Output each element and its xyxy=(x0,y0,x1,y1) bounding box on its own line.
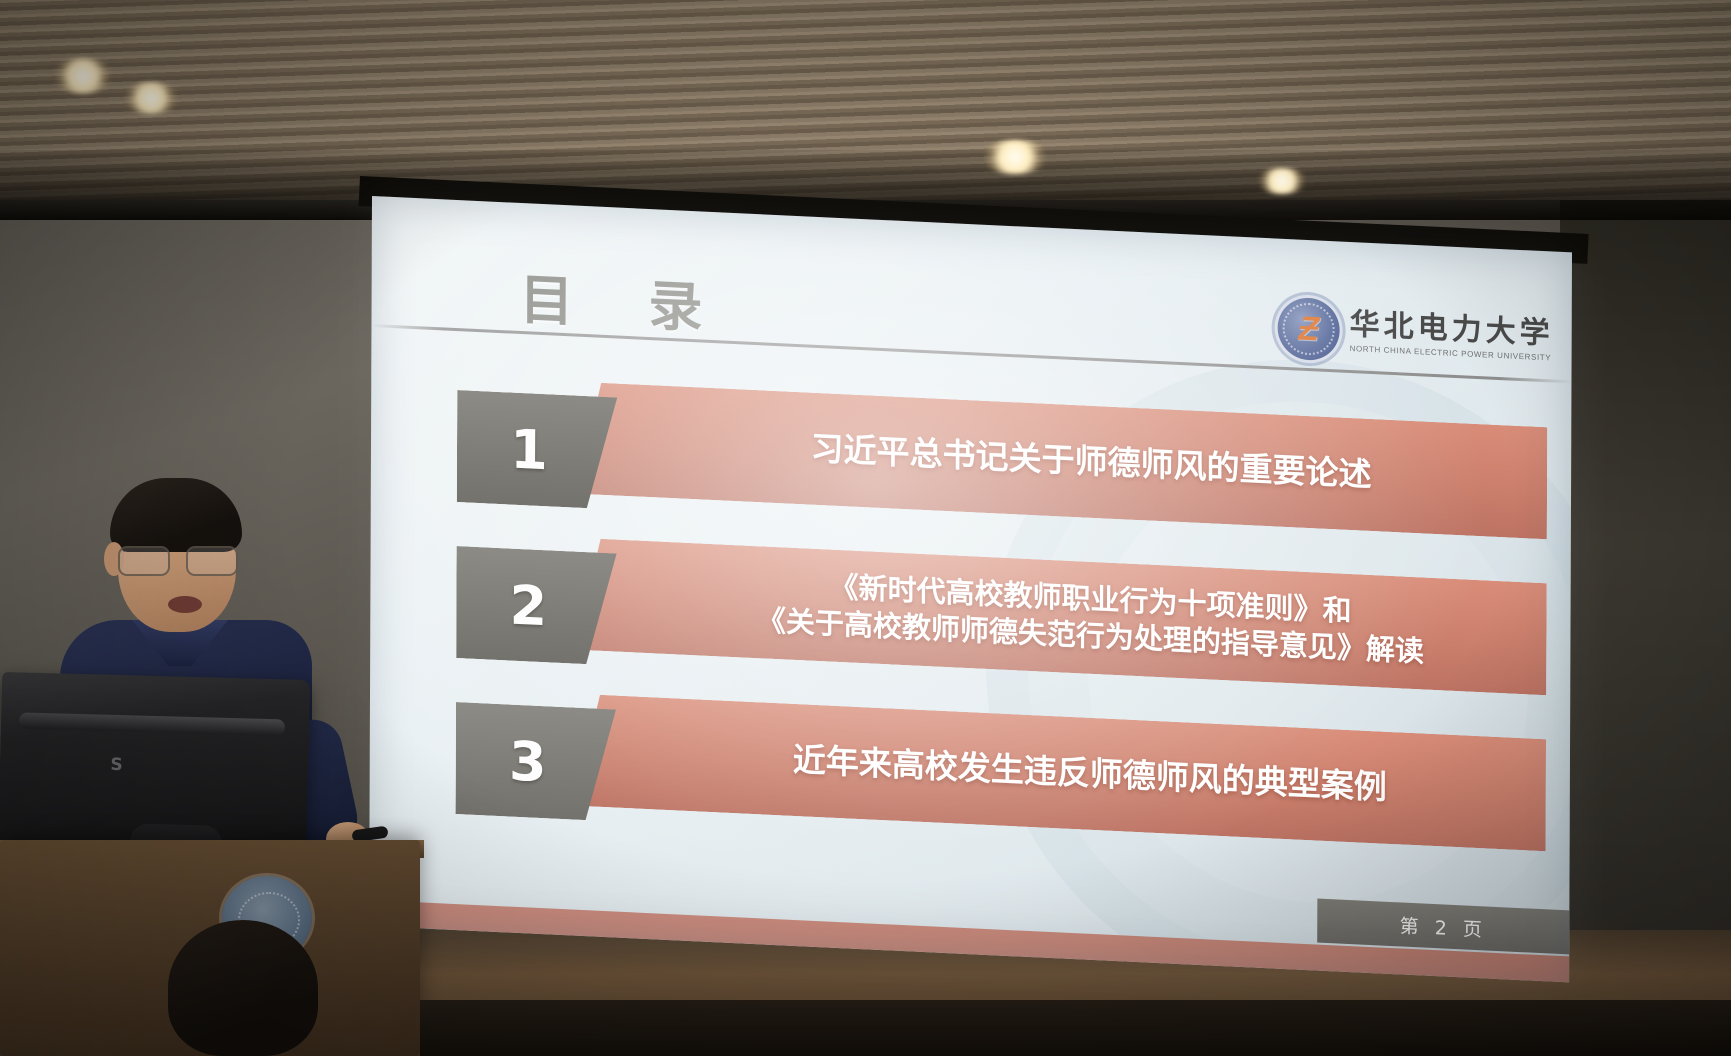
monitor-brand-icon: Ƨ xyxy=(96,754,123,775)
ceiling-light-icon xyxy=(52,58,114,94)
presenter-mouth xyxy=(168,596,202,613)
bolt-glyph-icon: Ƶ xyxy=(1294,309,1323,349)
agenda-item-2: 《新时代高校教师职业行为十项准则》和 《关于高校教师师德失范行为处理的指导意见》… xyxy=(456,532,1546,695)
lightning-bolt-emblem-icon: Ƶ xyxy=(1278,297,1340,362)
audience-member-silhouette xyxy=(168,920,318,1056)
ceiling-light-icon xyxy=(122,82,180,114)
agenda-item-2-label: 《新时代高校教师职业行为十项准则》和 《关于高校教师师德失范行为处理的指导意见》… xyxy=(757,565,1424,671)
confidence-monitor: Ƨ xyxy=(0,672,310,852)
agenda-item-1-label: 习近平总书记关于师德师风的重要论述 xyxy=(810,428,1371,497)
presenter-hair xyxy=(110,478,242,552)
agenda-item-2-number: 2 xyxy=(509,573,547,638)
university-name-cn: 华北电力大学 xyxy=(1350,309,1554,349)
agenda-item-3: 近年来高校发生违反师德师风的典型案例 3 xyxy=(456,688,1546,851)
wall-right-panel xyxy=(1560,200,1731,1056)
presentation-slide: 目 录 Ƶ 华北电力大学 NORTH CHINA ELECTRIC POWER … xyxy=(369,196,1572,982)
slide-title: 目 录 xyxy=(519,255,730,344)
monitor-vent xyxy=(19,712,285,735)
agenda-item-3-bar: 近年来高校发生违反师德师风的典型案例 xyxy=(574,694,1546,852)
slide-page-number: 第 2 页 xyxy=(1400,911,1487,942)
photo-scene: 目 录 Ƶ 华北电力大学 NORTH CHINA ELECTRIC POWER … xyxy=(0,0,1731,1056)
agenda-item-1-number: 1 xyxy=(510,417,548,482)
agenda-item-2-bar: 《新时代高校教师职业行为十项准则》和 《关于高校教师师德失范行为处理的指导意见》… xyxy=(574,538,1546,696)
agenda-list: 习近平总书记关于师德师风的重要论述 1 《新时代高校教师职业行为十项准则》和 《… xyxy=(455,376,1547,895)
agenda-item-3-number: 3 xyxy=(509,729,547,794)
university-logo: Ƶ 华北电力大学 NORTH CHINA ELECTRIC POWER UNIV… xyxy=(1278,297,1554,372)
projection-screen: 目 录 Ƶ 华北电力大学 NORTH CHINA ELECTRIC POWER … xyxy=(369,196,1572,982)
agenda-item-3-label: 近年来高校发生违反师德师风的典型案例 xyxy=(793,739,1387,809)
ceiling-light-icon xyxy=(1255,168,1309,194)
eyeglasses-icon xyxy=(116,546,240,572)
ceiling-light-icon xyxy=(980,140,1050,174)
stage-floor xyxy=(420,1000,1731,1056)
